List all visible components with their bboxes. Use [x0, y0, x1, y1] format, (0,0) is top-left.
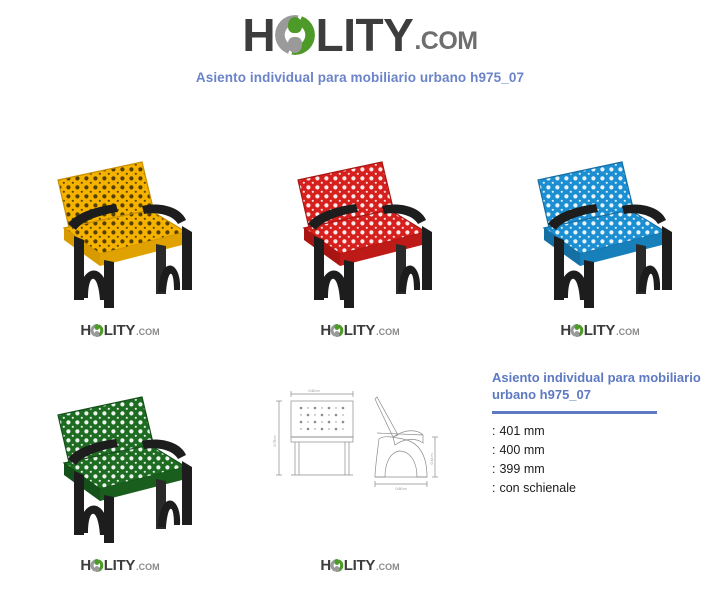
page-header: H LITY .COM Asiento individual para mobi…: [0, 0, 720, 85]
watermark-letter-h: H: [320, 557, 330, 574]
product-gallery: H LITY .COM: [0, 120, 720, 590]
watermark-circle-icon: [91, 324, 104, 337]
logo-circle-icon: [275, 15, 315, 55]
watermark-holity: H LITY .COM: [80, 558, 159, 572]
watermark-letter-h: H: [320, 322, 330, 339]
watermark-letters-lity: LITY: [104, 557, 135, 574]
chair-yellow-image[interactable]: [30, 140, 210, 310]
watermark-circle-icon: [331, 559, 344, 572]
spec-row: : 399 mm: [492, 460, 707, 479]
gallery-item-chair-yellow[interactable]: H LITY .COM: [0, 120, 240, 355]
spec-value: 400 mm: [499, 441, 544, 460]
spec-list: : 401 mm : 400 mm : 399 mm : con schiena…: [492, 422, 707, 498]
spec-row: : con schienale: [492, 479, 707, 498]
watermark-circle-icon: [91, 559, 104, 572]
watermark-letters-lity: LITY: [104, 322, 135, 339]
watermark-circle-icon: [571, 324, 584, 337]
logo-suffix-com: .COM: [414, 29, 477, 54]
watermark-suffix-com: .COM: [136, 562, 160, 572]
spec-separator: :: [492, 422, 495, 441]
watermark-holity: H LITY .COM: [80, 323, 159, 337]
watermark-suffix-com: .COM: [616, 327, 640, 337]
watermark-suffix-com: .COM: [376, 327, 400, 337]
spec-separator: :: [492, 460, 495, 479]
gallery-item-chair-green[interactable]: H LITY .COM: [0, 355, 240, 590]
logo-gray-blob: [288, 37, 302, 53]
spec-row: : 400 mm: [492, 441, 707, 460]
spec-row: : 401 mm: [492, 422, 707, 441]
dim-front-width: 0.60 m: [309, 389, 320, 393]
gallery-item-technical-drawing[interactable]: 0.60 m 0.78 m 0.44 m 0.60 m H LITY .COM: [240, 355, 480, 590]
spec-separator: :: [492, 441, 495, 460]
watermark-suffix-com: .COM: [376, 562, 400, 572]
watermark-letters-lity: LITY: [344, 322, 375, 339]
spec-value: 401 mm: [499, 422, 544, 441]
logo-green-blob: [288, 17, 302, 33]
watermark-holity: H LITY .COM: [560, 323, 639, 337]
gallery-item-chair-blue[interactable]: H LITY .COM: [480, 120, 720, 355]
gallery-row: H LITY .COM: [0, 120, 720, 355]
chair-green-image[interactable]: [30, 375, 210, 545]
watermark-holity: H LITY .COM: [320, 558, 399, 572]
chair-red-image[interactable]: [270, 140, 450, 310]
watermark-holity: H LITY .COM: [320, 323, 399, 337]
logo-letters-lity: LITY: [316, 12, 414, 58]
dim-side-depth: 0.60 m: [396, 487, 407, 491]
watermark-letters-lity: LITY: [344, 557, 375, 574]
watermark-circle-icon: [331, 324, 344, 337]
chair-blue-image[interactable]: [510, 140, 690, 310]
product-info-title: Asiento individual para mobiliario urban…: [492, 370, 707, 403]
watermark-letters-lity: LITY: [584, 322, 615, 339]
gallery-item-chair-red[interactable]: H LITY .COM: [240, 120, 480, 355]
logo-letter-h: H: [242, 12, 274, 58]
watermark-suffix-com: .COM: [136, 327, 160, 337]
watermark-letter-h: H: [560, 322, 570, 339]
info-divider: [492, 411, 657, 414]
technical-drawing-image[interactable]: 0.60 m 0.78 m 0.44 m 0.60 m: [265, 377, 455, 492]
dim-front-height: 0.78 m: [273, 436, 277, 447]
holity-logo[interactable]: H LITY .COM: [242, 14, 477, 56]
product-info-panel: Asiento individual para mobiliario urban…: [492, 370, 707, 498]
watermark-letter-h: H: [80, 322, 90, 339]
dim-side-height: 0.44 m: [430, 454, 434, 465]
watermark-letter-h: H: [80, 557, 90, 574]
page-title: Asiento individual para mobiliario urban…: [0, 70, 720, 85]
spec-value: 399 mm: [499, 460, 544, 479]
spec-value: con schienale: [499, 479, 575, 498]
spec-separator: :: [492, 479, 495, 498]
